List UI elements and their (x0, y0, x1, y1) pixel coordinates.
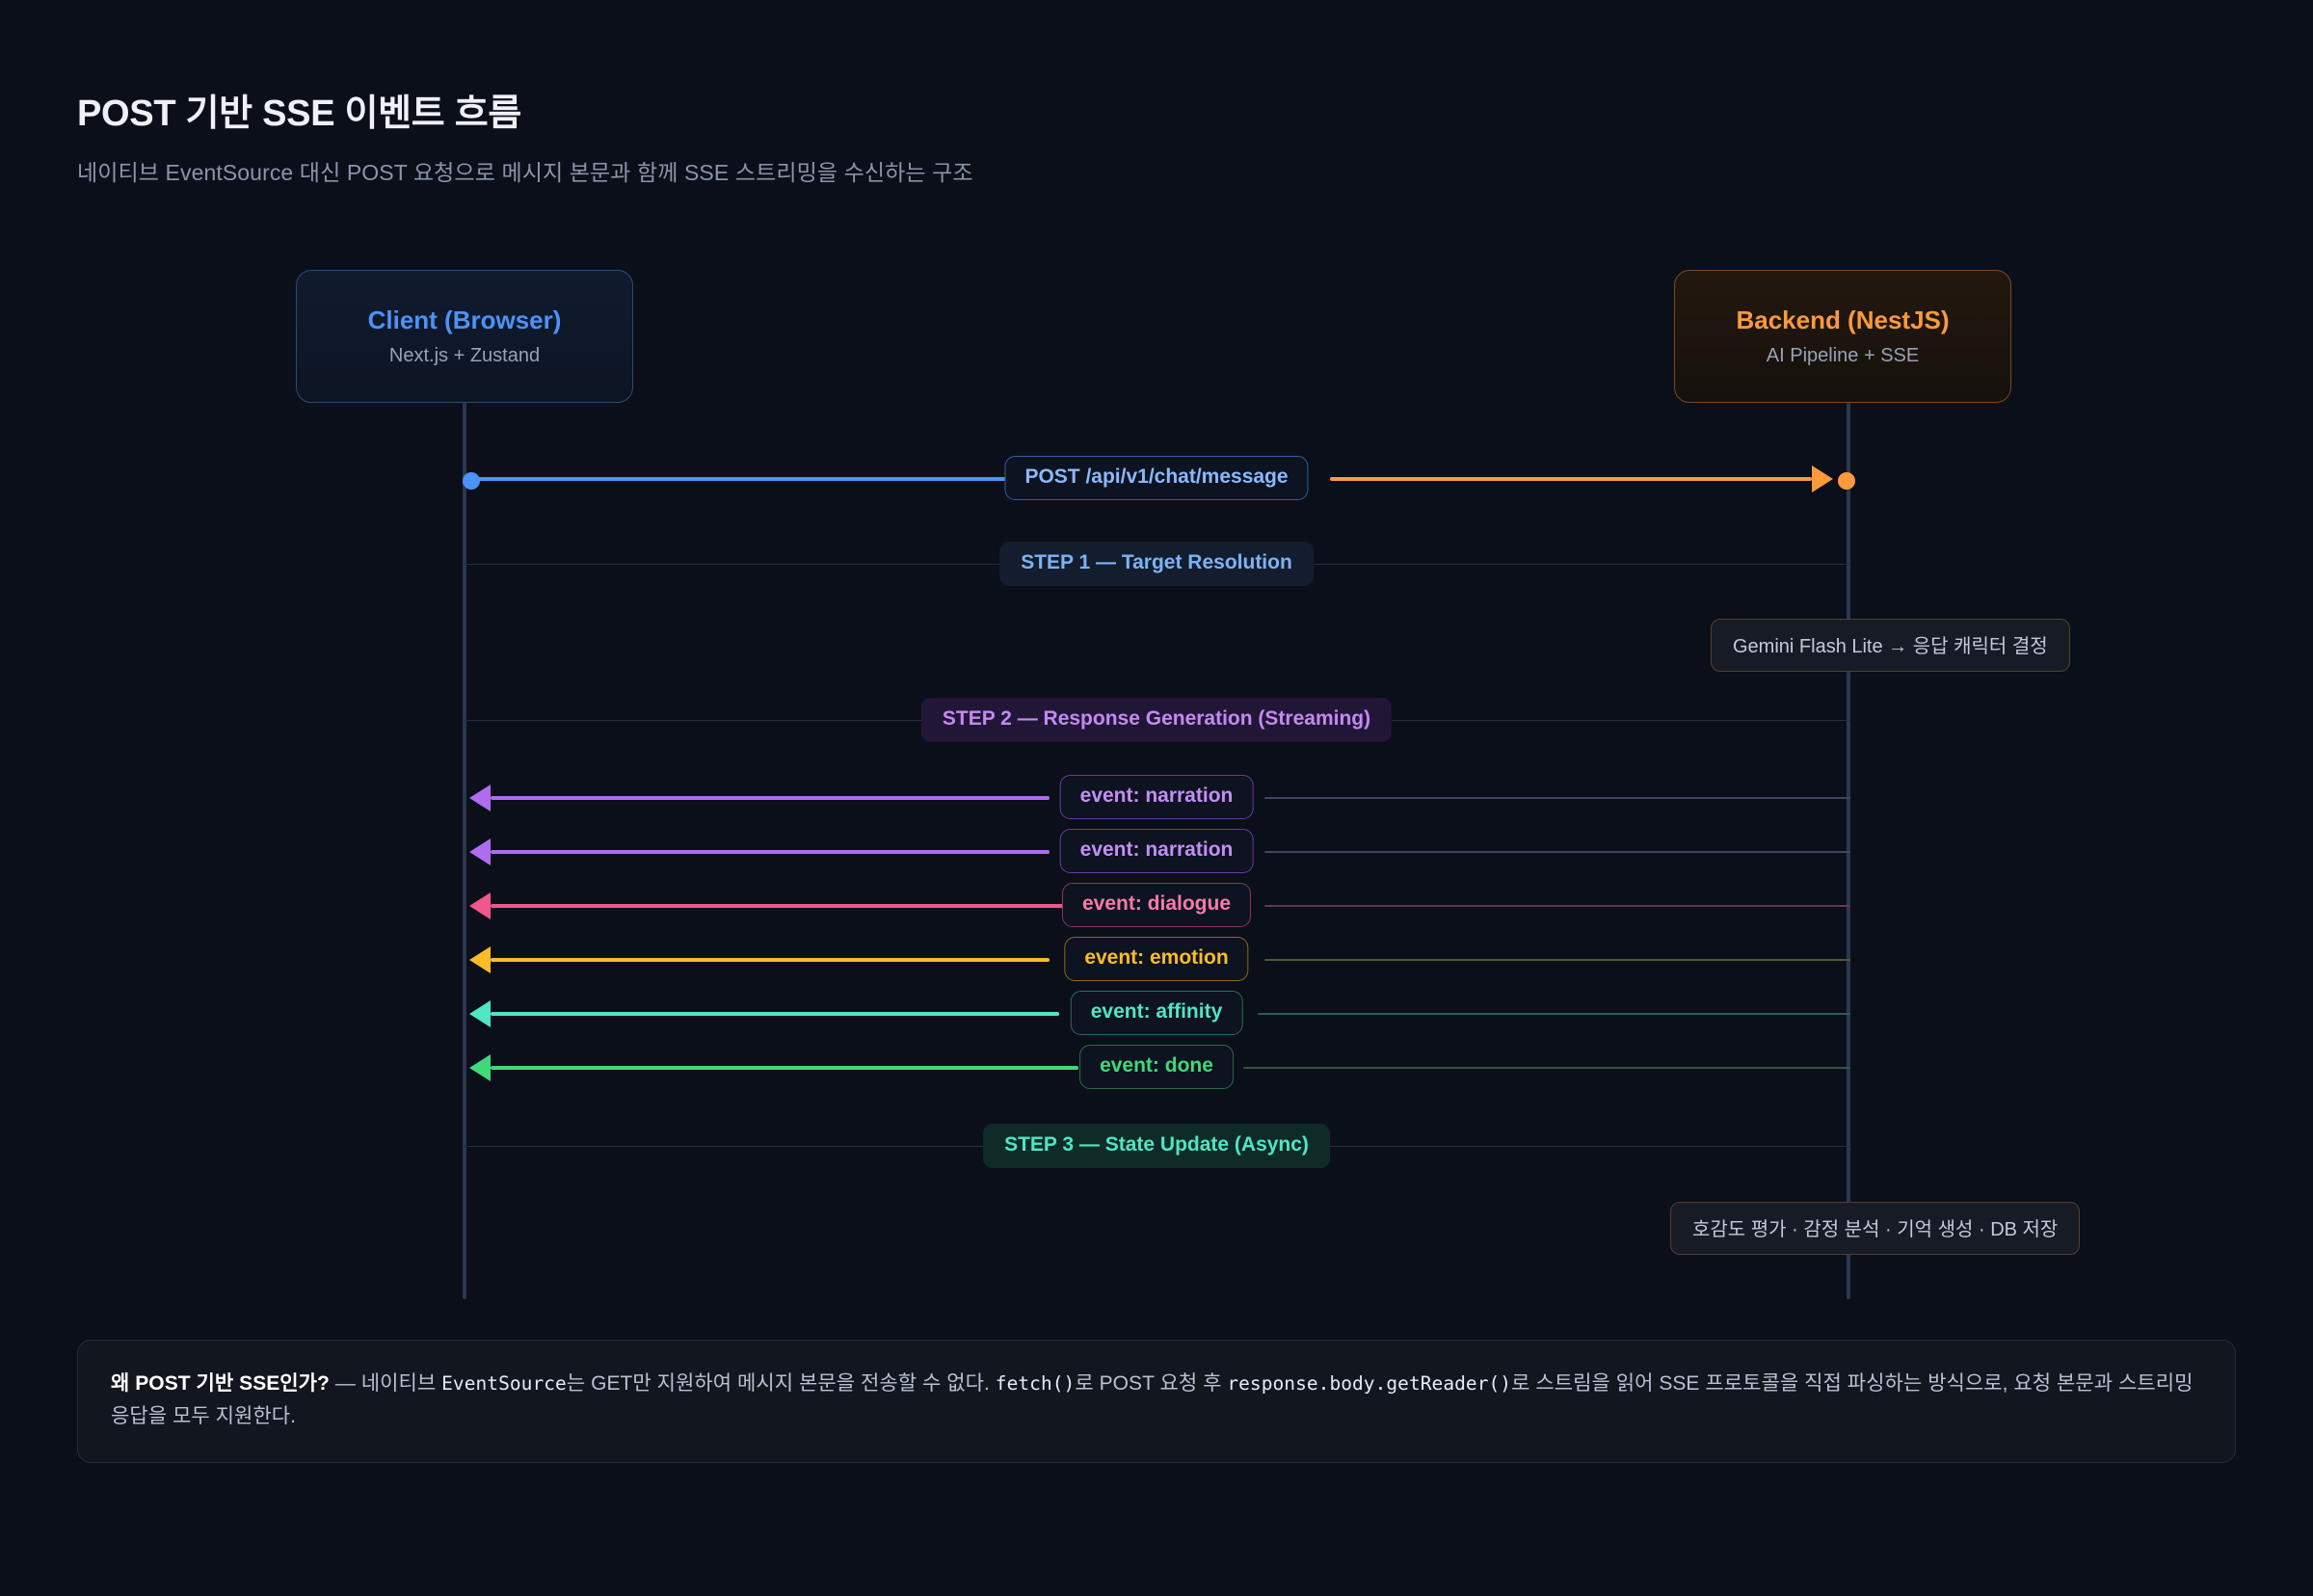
actor-backend[interactable]: Backend (NestJS) AI Pipeline + SSE (1674, 270, 2011, 403)
event-label-5[interactable]: event: done (1079, 1045, 1234, 1089)
event-arrowhead-icon (469, 946, 491, 973)
event-arrowhead-icon (469, 1054, 491, 1081)
footer-text-2: 는 GET만 지원하여 메시지 본문을 전송할 수 없다. (567, 1372, 996, 1395)
footer-code-getreader: response.body.getReader() (1227, 1372, 1511, 1395)
step-3-label[interactable]: STEP 3 — State Update (Async) (983, 1124, 1330, 1168)
footer-text-1: 네이티브 (361, 1372, 441, 1395)
event-arrowhead-icon (469, 838, 491, 865)
event-arrowhead-icon (469, 892, 491, 919)
event-line-dim (1264, 797, 1850, 799)
footer-code-fetch: fetch() (996, 1372, 1076, 1395)
event-line-active (491, 904, 1069, 908)
footer-callout: 왜 POST 기반 SSE인가? — 네이티브 EventSource는 GET… (77, 1340, 2236, 1463)
event-line-active (491, 796, 1050, 800)
step-2-label[interactable]: STEP 2 — Response Generation (Streaming) (921, 698, 1392, 742)
note-gemini[interactable]: Gemini Flash Lite → 응답 캐릭터 결정 (1711, 619, 2070, 672)
page-title: POST 기반 SSE 이벤트 흐름 (77, 83, 521, 136)
step-1-label[interactable]: STEP 1 — Target Resolution (999, 542, 1314, 586)
sequence-diagram-page: POST 기반 SSE 이벤트 흐름 네이티브 EventSource 대신 P… (0, 0, 2313, 1596)
event-label-2[interactable]: event: dialogue (1062, 883, 1251, 927)
footer-text-3: 로 POST 요청 후 (1075, 1372, 1227, 1395)
event-line-dim (1258, 1013, 1850, 1015)
actor-client-subtitle: Next.js + Zustand (389, 345, 540, 367)
event-label-0[interactable]: event: narration (1060, 775, 1254, 819)
request-target-dot (1838, 472, 1855, 490)
event-line-dim (1264, 905, 1850, 907)
request-origin-dot (463, 472, 480, 490)
footer-code-eventsource: EventSource (441, 1372, 567, 1395)
actor-backend-subtitle: AI Pipeline + SSE (1767, 345, 1919, 367)
event-line-active (491, 850, 1050, 854)
event-arrowhead-icon (469, 1000, 491, 1027)
request-line-left (471, 477, 1059, 481)
event-label-4[interactable]: event: affinity (1071, 991, 1243, 1035)
event-line-dim (1243, 1067, 1850, 1069)
request-arrowhead-icon (1812, 465, 1833, 492)
event-label-3[interactable]: event: emotion (1064, 937, 1248, 981)
footer-dash: — (330, 1372, 361, 1395)
actor-client[interactable]: Client (Browser) Next.js + Zustand (296, 270, 633, 403)
event-arrowhead-icon (469, 785, 491, 811)
note-postprocess[interactable]: 호감도 평가 · 감정 분석 · 기억 생성 · DB 저장 (1670, 1202, 2080, 1255)
actor-client-title: Client (Browser) (368, 306, 562, 335)
footer-lead: 왜 POST 기반 SSE인가? (111, 1372, 330, 1395)
lifeline-client (463, 403, 466, 1299)
event-line-active (491, 958, 1050, 962)
request-label[interactable]: POST /api/v1/chat/message (1004, 456, 1308, 500)
event-line-dim (1264, 959, 1850, 961)
event-line-active (491, 1012, 1059, 1016)
event-line-active (491, 1066, 1078, 1070)
event-label-1[interactable]: event: narration (1060, 829, 1254, 873)
actor-backend-title: Backend (NestJS) (1736, 306, 1949, 335)
request-line-right (1330, 477, 1812, 481)
event-line-dim (1264, 851, 1850, 853)
page-subtitle: 네이티브 EventSource 대신 POST 요청으로 메시지 본문과 함께… (77, 154, 973, 187)
